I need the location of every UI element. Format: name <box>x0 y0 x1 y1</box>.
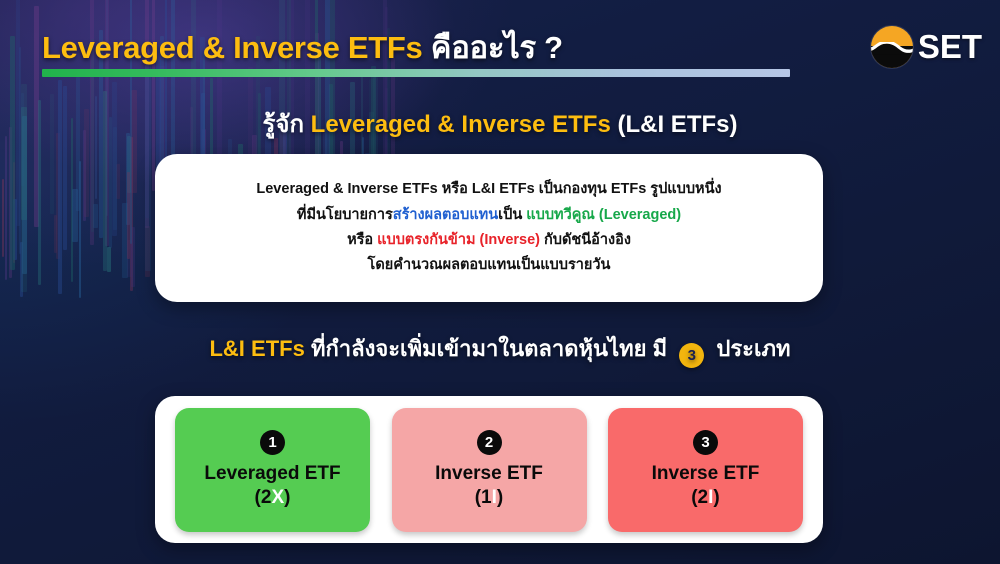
definition-line-2-part-c: เป็น <box>498 207 522 223</box>
definition-line-3-part-b: แบบตรงกันข้าม (Inverse) <box>377 232 540 248</box>
page-title: Leveraged & Inverse ETFs คืออะไร ? <box>42 22 563 72</box>
page-title-main: Leveraged & Inverse ETFs <box>42 30 422 65</box>
definition-line-3: หรือ แบบตรงกันข้าม (Inverse) กับดัชนีอ้า… <box>347 229 631 252</box>
set-logo-text: SET <box>918 28 982 66</box>
definition-line-1: Leveraged & Inverse ETFs หรือ L&I ETFs เ… <box>256 178 721 201</box>
definition-line-2-part-b: สร้างผลตอบแทน <box>393 207 498 223</box>
set-sun-wave-logo-icon <box>871 26 913 68</box>
etf-type-card-3[interactable]: 3 Inverse ETF (2I) <box>608 408 803 532</box>
etf-type-card-1-multiplier: (2X) <box>255 487 291 509</box>
etf-type-card-1-number: 1 <box>260 430 285 455</box>
types-heading-text-after: ประเภท <box>716 336 790 361</box>
section-heading-highlight: Leveraged & Inverse ETFs <box>311 111 611 138</box>
slide-canvas: Leveraged & Inverse ETFs คืออะไร ? SET ร… <box>0 0 1000 564</box>
page-title-suffix: คืออะไร ? <box>431 30 563 65</box>
definition-line-3-part-a: หรือ <box>347 232 373 248</box>
etf-type-card-2-multiplier: (1I) <box>475 487 504 509</box>
etf-type-card-1-name: Leveraged ETF <box>204 463 340 485</box>
etf-type-card-2-name: Inverse ETF <box>435 463 543 485</box>
types-heading-label: L&I ETFs <box>209 336 304 361</box>
definition-line-2: ที่มีนโยบายการสร้างผลตอบแทนเป็น แบบทวีคู… <box>297 204 681 227</box>
types-heading-text-before: ที่กำลังจะเพิ่มเข้ามาในตลาดหุ้นไทย มี <box>311 336 667 361</box>
definition-line-2-part-a: ที่มีนโยบายการ <box>297 207 393 223</box>
etf-type-card-3-number: 3 <box>693 430 718 455</box>
etf-type-card-3-multiplier: (2I) <box>691 487 720 509</box>
definition-card: Leveraged & Inverse ETFs หรือ L&I ETFs เ… <box>155 154 823 302</box>
etf-type-card-2-number: 2 <box>477 430 502 455</box>
title-underline-gradient <box>42 69 790 77</box>
section-heading-types: L&I ETFs ที่กำลังจะเพิ่มเข้ามาในตลาดหุ้น… <box>0 331 1000 368</box>
section-heading-prefix: รู้จัก <box>263 111 304 138</box>
etf-type-card-2[interactable]: 2 Inverse ETF (1I) <box>392 408 587 532</box>
etf-type-card-3-name: Inverse ETF <box>652 463 760 485</box>
definition-line-2-part-d: แบบทวีคูณ (Leveraged) <box>526 207 681 223</box>
types-count-badge: 3 <box>679 343 704 368</box>
etf-types-container: 1 Leveraged ETF (2X) 2 Inverse ETF (1I) … <box>155 396 823 543</box>
section-heading-intro: รู้จัก Leveraged & Inverse ETFs (L&I ETF… <box>0 104 1000 143</box>
definition-line-4: โดยคำนวณผลตอบแทนเป็นแบบรายวัน <box>368 254 611 277</box>
definition-line-3-part-c: กับดัชนีอ้างอิง <box>544 232 631 248</box>
set-logo: SET <box>871 26 982 68</box>
etf-type-card-1[interactable]: 1 Leveraged ETF (2X) <box>175 408 370 532</box>
section-heading-suffix: (L&I ETFs) <box>617 111 737 138</box>
